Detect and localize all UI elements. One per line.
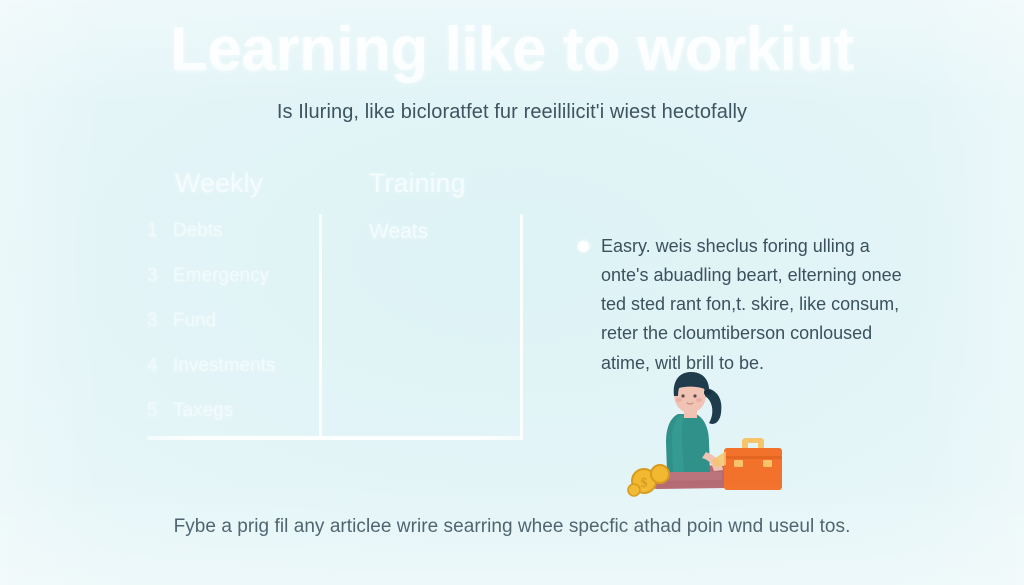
table-row: 5 Taxegs (147, 400, 319, 445)
row-label: Emergency (173, 265, 269, 287)
toolbox-seam (724, 456, 782, 459)
coin-dollar-sign: $ (641, 476, 648, 491)
blush-left (676, 398, 682, 402)
toolbox-latch-left (734, 460, 743, 467)
toolbox-body (724, 454, 782, 490)
toolbox-latch-right (763, 460, 772, 467)
footer: Fybe a prig fil any articlee wrire searr… (0, 516, 1024, 538)
row-number: 4 (147, 355, 173, 377)
toolbox-handle (742, 438, 764, 448)
row-label: Fund (173, 310, 216, 332)
eye-right (693, 394, 696, 397)
bullet-list-item: Easry. weis sheclus foring ulling a onte… (578, 232, 908, 378)
row-label: Investments (173, 355, 275, 377)
table-column-header-training: Training (369, 168, 466, 199)
table-header-row: Weekly Training (147, 168, 523, 212)
table-row: 3 Fund (147, 310, 319, 355)
table-row: 1 Debts (147, 220, 319, 265)
table-row: 4 Investments (147, 355, 319, 400)
row-number: 1 (147, 220, 173, 242)
table-vertical-divider-2 (520, 214, 523, 440)
coin-back (651, 465, 669, 483)
header: Learning like to workiut Is Iluring, lik… (0, 18, 1024, 124)
illustration-svg: $ (622, 368, 792, 500)
blush-right (696, 398, 702, 402)
bullet-text: Easry. weis sheclus foring ulling a onte… (601, 232, 908, 378)
woman-with-toolbox-and-coins-illustration: $ (622, 368, 792, 500)
bullet-dot-icon (578, 241, 589, 252)
table-body: 1 Debts 3 Emergency 3 Fund 4 Investments… (147, 220, 319, 445)
coin-small (628, 484, 640, 496)
row-number: 3 (147, 310, 173, 332)
slide-canvas: Learning like to workiut Is Iluring, lik… (0, 0, 1024, 585)
table-cell-training-value: Weats (369, 220, 428, 244)
row-label: Taxegs (173, 400, 233, 422)
table-vertical-divider-1 (319, 214, 322, 440)
hair-tie (704, 390, 711, 395)
page-title: Learning like to workiut (0, 18, 1024, 81)
row-number: 3 (147, 265, 173, 287)
table-column-header-weekly: Weekly (175, 168, 263, 199)
row-label: Debts (173, 220, 223, 242)
table-panel: Weekly Training 1 Debts 3 Emergency 3 Fu… (147, 168, 523, 440)
page-subtitle: Is Iluring, like bicloratfet fur reeilil… (0, 101, 1024, 124)
row-number: 5 (147, 400, 173, 422)
toolbox-open-flap (712, 451, 726, 467)
table-row: 3 Emergency (147, 265, 319, 310)
eye-left (681, 394, 684, 397)
footer-caption: Fybe a prig fil any articlee wrire searr… (0, 516, 1024, 538)
